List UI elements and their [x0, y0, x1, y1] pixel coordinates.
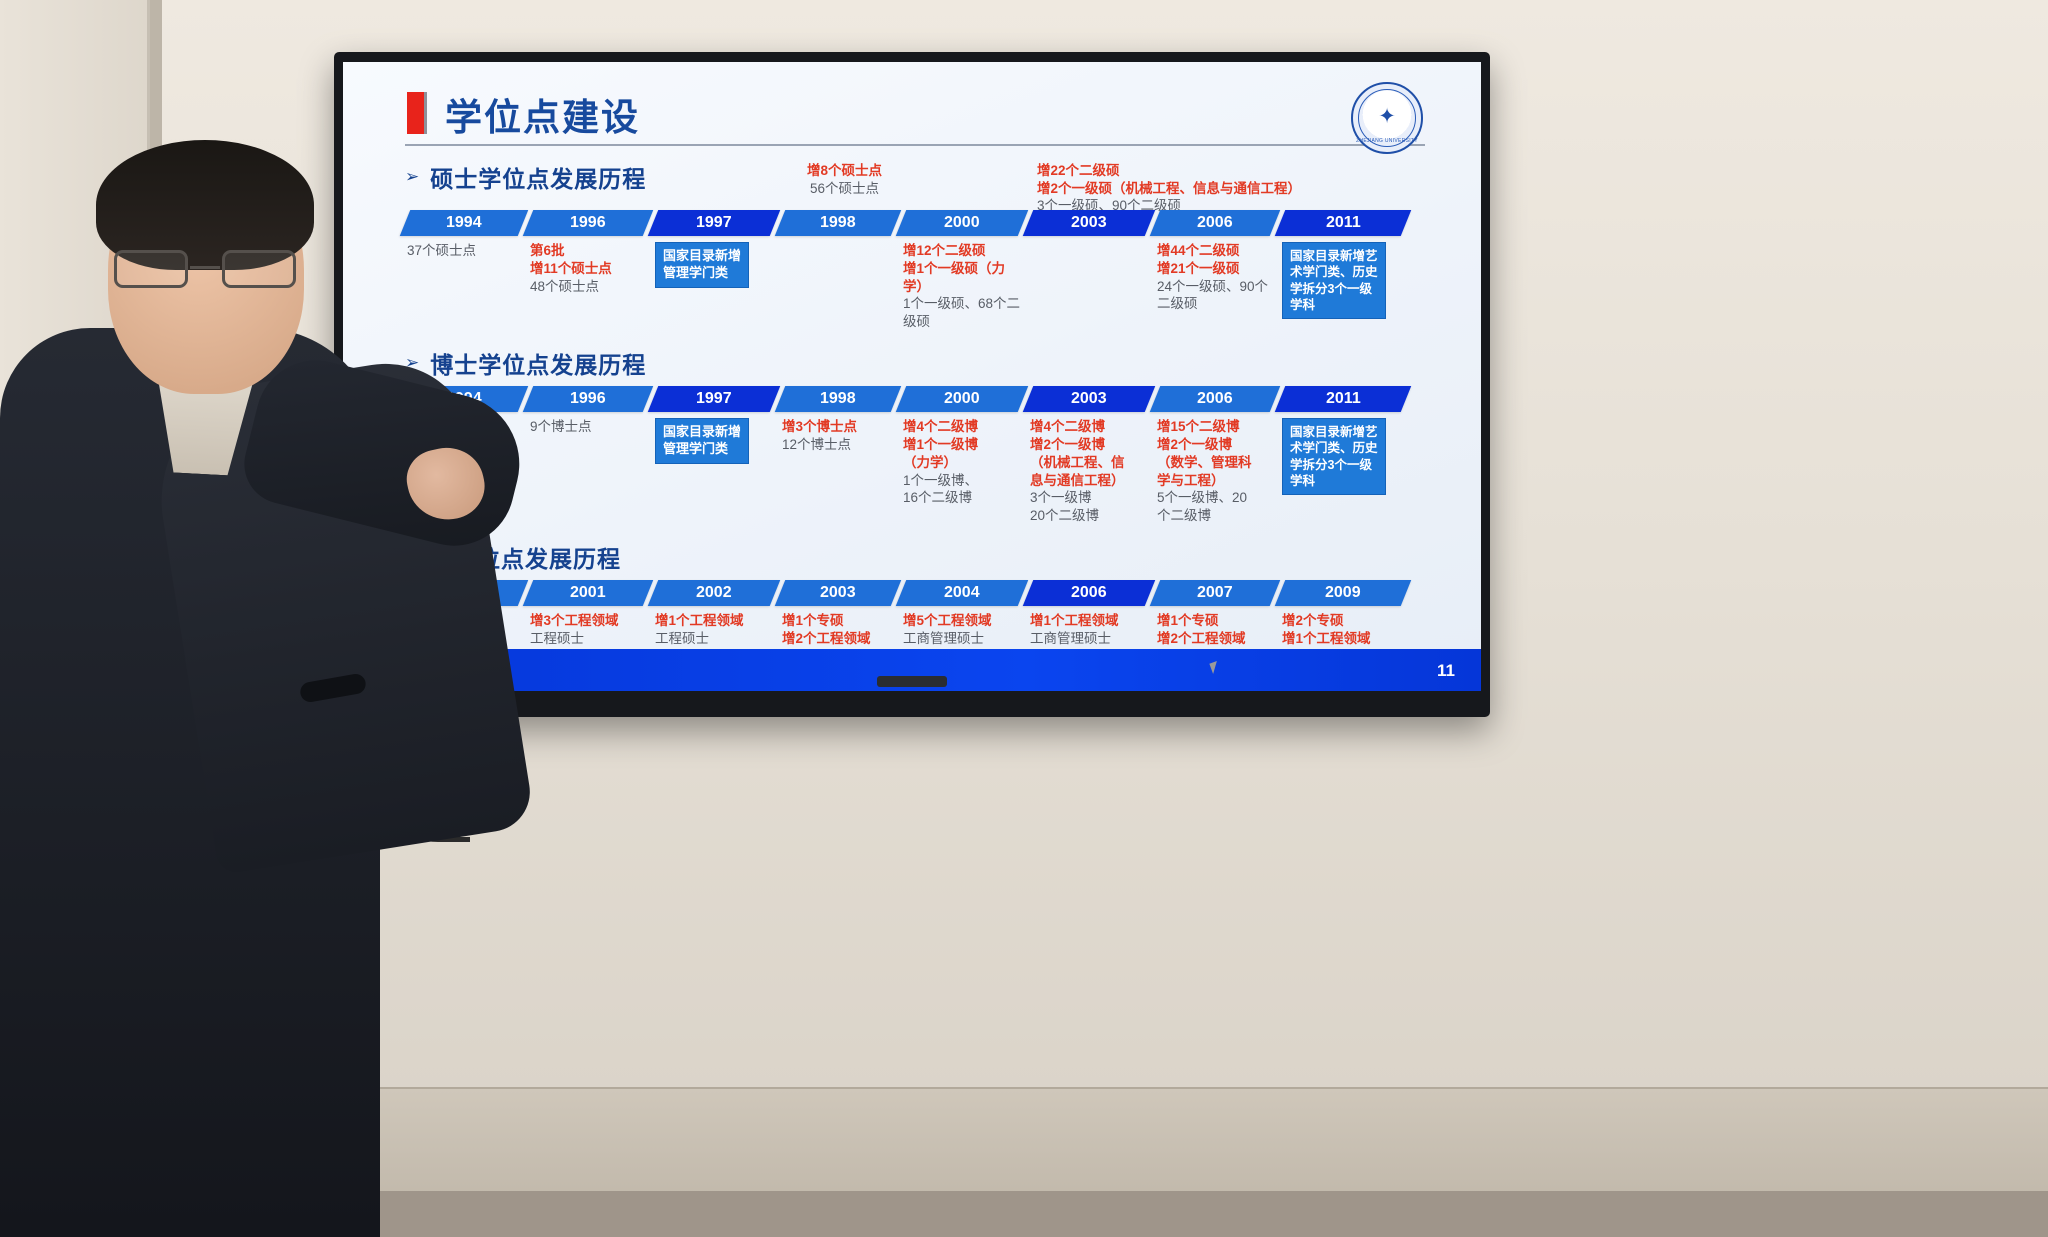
- year-chip-label: 1998: [820, 390, 856, 408]
- timeline-cell: 国家目录新增艺术学门类、历史学拆分3个一级学科: [1280, 417, 1406, 526]
- highlight-box-line: 学拆分3个一级: [1290, 457, 1378, 473]
- timeline-cell-line: 增2个专硕: [1282, 612, 1404, 630]
- floor-strip: [0, 1191, 2048, 1237]
- timeline-cell-line: 3个一级博: [1030, 489, 1148, 507]
- presentation-slide: 学位点建设 ✦ ZHEJIANG UNIVERSITY ➢硕士学位点发展历程增8…: [343, 62, 1481, 691]
- timeline-cell-line: 增4个二级博: [1030, 418, 1148, 436]
- timeline-cell-line: 48个硕士点: [530, 278, 646, 296]
- highlight-box-line: 管理学门类: [663, 265, 741, 282]
- timeline-cell-line: （数学、管理科: [1157, 454, 1273, 472]
- timeline-cell-line: 增2个一级博: [1157, 436, 1273, 454]
- year-chip-label: 2003: [1071, 390, 1107, 408]
- year-chip-2001[interactable]: 2001: [523, 580, 654, 606]
- year-chip-2004[interactable]: 2004: [896, 580, 1029, 606]
- timeline-section-doctoral: ➢博士学位点发展历程199419961997199820002003200620…: [377, 346, 1447, 526]
- wall-mounted-display: 学位点建设 ✦ ZHEJIANG UNIVERSITY ➢硕士学位点发展历程增8…: [334, 52, 1490, 717]
- bullet-arrow-icon: ➢: [405, 353, 420, 373]
- year-chip-label: 1999: [446, 584, 482, 602]
- year-chip-1996[interactable]: 1996: [523, 210, 654, 236]
- year-chip-label: 1998: [820, 214, 856, 232]
- year-chip-2003[interactable]: 2003: [775, 580, 902, 606]
- timeline-cell: 国家目录新增管理学门类: [653, 417, 775, 526]
- year-chip-2011[interactable]: 2011: [1275, 210, 1412, 236]
- timeline-cell: 增3个博士点12个博士点: [780, 417, 896, 526]
- slide-header: 学位点建设 ✦ ZHEJIANG UNIVERSITY: [377, 88, 1447, 150]
- timeline-cell-line: 增44个二级硕: [1157, 242, 1273, 260]
- timeline-cell: 37个硕士点: [405, 241, 523, 332]
- highlight-box: 国家目录新增管理学门类: [655, 418, 749, 464]
- year-chip-2003[interactable]: 2003: [1023, 210, 1156, 236]
- top-note: 增8个硕士点56个硕士点: [807, 162, 882, 197]
- timeline-section-masters: ➢硕士学位点发展历程增8个硕士点56个硕士点增22个二级硕增2个一级硕（机械工程…: [377, 160, 1447, 332]
- highlight-box: 国家目录新增艺术学门类、历史学拆分3个一级学科: [1282, 418, 1386, 495]
- year-chip-2011[interactable]: 2011: [1275, 386, 1412, 412]
- year-chip-label: 1994: [446, 390, 482, 408]
- timeline-cell-line: 增1个一级硕（力学）: [903, 260, 1021, 296]
- year-chip-label: 1994: [446, 214, 482, 232]
- timeline-cell-line: 工程硕士: [530, 630, 646, 648]
- highlight-box-line: 术学门类、历史: [1290, 264, 1378, 280]
- top-note-line: 增8个硕士点: [807, 162, 882, 180]
- section-heading-professional: 专业学位点发展历程: [405, 540, 1447, 574]
- top-note-line: 56个硕士点: [807, 180, 882, 198]
- highlight-box-line: 国家目录新增: [663, 248, 741, 265]
- year-chip-2007[interactable]: 2007: [1150, 580, 1281, 606]
- timeline-cell-line: 1个一级博、: [903, 472, 1021, 490]
- timeline-cell: 国家目录新增管理学门类: [653, 241, 775, 332]
- top-note: 增22个二级硕增2个一级硕（机械工程、信息与通信工程）3个一级硕、90个二级硕: [1037, 162, 1301, 215]
- timeline-cell-line: 工商管理硕士: [1030, 630, 1148, 648]
- timeline-cell-line: 工程硕士: [407, 612, 521, 630]
- timeline-cell-line: 增21个一级硕: [1157, 260, 1273, 278]
- slide-body: ➢硕士学位点发展历程增8个硕士点56个硕士点增22个二级硕增2个一级硕（机械工程…: [377, 160, 1447, 691]
- year-chip-1998[interactable]: 1998: [775, 210, 902, 236]
- year-chip-label: 2006: [1071, 584, 1107, 602]
- timeline-cell-line: 增1个工程领域: [1030, 612, 1148, 630]
- year-chip-2006[interactable]: 2006: [1023, 580, 1156, 606]
- university-logo-icon: ✦ ZHEJIANG UNIVERSITY: [1351, 82, 1423, 154]
- highlight-box-line: 学科: [1290, 297, 1378, 313]
- timeline-cell-line: 增3个工程领域: [530, 612, 646, 630]
- highlight-box-line: 国家目录新增艺: [1290, 424, 1378, 440]
- timeline-cell-line: 增2个工程领域: [1157, 630, 1273, 648]
- timeline-cell: 增15个二级博增2个一级博（数学、管理科学与工程）5个一级博、20个二级博: [1155, 417, 1275, 526]
- timeline-cell: [1028, 241, 1150, 332]
- highlight-box-line: 国家目录新增艺: [1290, 248, 1378, 264]
- year-chip-1994[interactable]: 1994: [400, 386, 529, 412]
- timeline-cell-line: 增1个工程领域: [1282, 630, 1404, 648]
- display-chin-logo: [877, 676, 947, 687]
- timeline-cell-line: 16个二级博: [903, 489, 1021, 507]
- highlight-box-line: 管理学门类: [663, 441, 741, 458]
- timeline-cell-line: （3个领域）: [407, 630, 521, 648]
- timeline-cell-line: 学与工程）: [1157, 472, 1273, 490]
- timeline-cell-line: 37个硕士点: [407, 242, 521, 260]
- wall-trim: [150, 0, 162, 1237]
- year-chip-label: 2003: [1071, 214, 1107, 232]
- logo-text: ZHEJIANG UNIVERSITY: [1356, 138, 1418, 144]
- year-chip-label: 2002: [696, 584, 732, 602]
- timeline-cell-line: 增5个工程领域: [903, 612, 1021, 630]
- timeline-cell-line: 增12个二级硕: [903, 242, 1021, 260]
- year-chip-label: 1996: [570, 214, 606, 232]
- timeline-cell-line: 增1个一级博: [903, 436, 1021, 454]
- highlight-box-line: 学拆分3个一级: [1290, 281, 1378, 297]
- content-row-doctoral: 9个博士点9个博士点国家目录新增管理学门类增3个博士点12个博士点增4个二级博增…: [405, 417, 1447, 526]
- year-chevron-row-professional: 19992001200220032004200620072009: [405, 580, 1447, 606]
- year-chip-2000[interactable]: 2000: [896, 210, 1029, 236]
- year-chip-label: 1997: [696, 390, 732, 408]
- year-chip-1997[interactable]: 1997: [648, 386, 781, 412]
- year-chip-2003[interactable]: 2003: [1023, 386, 1156, 412]
- timeline-cell-line: 增2个一级博: [1030, 436, 1148, 454]
- timeline-cell-line: 20个二级博: [1030, 507, 1148, 525]
- year-chip-1994[interactable]: 1994: [400, 210, 529, 236]
- year-chevron-row-doctoral: 19941996199719982000200320062011: [405, 386, 1447, 412]
- timeline-cell-line: 增3个博士点: [782, 418, 894, 436]
- year-chip-label: 1996: [570, 390, 606, 408]
- year-chip-label: 2000: [944, 214, 980, 232]
- year-chip-label: 2009: [1325, 584, 1361, 602]
- timeline-cell-line: 增1个专硕: [782, 612, 894, 630]
- timeline-cell: 增4个二级博增1个一级博（力学）1个一级博、16个二级博: [901, 417, 1023, 526]
- timeline-cell-line: 增1个工程领域: [655, 612, 773, 630]
- year-chip-2000[interactable]: 2000: [896, 386, 1029, 412]
- top-note-line: 增2个一级硕（机械工程、信息与通信工程）: [1037, 180, 1301, 198]
- highlight-box: 国家目录新增艺术学门类、历史学拆分3个一级学科: [1282, 242, 1386, 319]
- timeline-cell: 增4个二级博增2个一级博（机械工程、信息与通信工程）3个一级博20个二级博: [1028, 417, 1150, 526]
- year-chip-label: 2000: [944, 390, 980, 408]
- display-screen: 学位点建设 ✦ ZHEJIANG UNIVERSITY ➢硕士学位点发展历程增8…: [343, 62, 1481, 691]
- timeline-cell: 9个博士点: [528, 417, 648, 526]
- timeline-cell: [780, 241, 896, 332]
- timeline-cell-line: 增15个二级博: [1157, 418, 1273, 436]
- timeline-cell: 第6批增11个硕士点48个硕士点: [528, 241, 648, 332]
- section-heading-label: 博士学位点发展历程: [430, 346, 646, 380]
- timeline-cell-line: 9个博士点: [407, 418, 521, 436]
- page-title: 学位点建设: [445, 87, 640, 141]
- timeline-cell-line: 9个博士点: [530, 418, 646, 436]
- highlight-box: 国家目录新增管理学门类: [655, 242, 749, 288]
- timeline-cell-line: 息与通信工程）: [1030, 472, 1148, 490]
- timeline-cell: 9个博士点: [405, 417, 523, 526]
- title-accent-bar: [407, 92, 427, 134]
- year-chip-label: 2001: [570, 584, 606, 602]
- title-divider: [405, 144, 1425, 146]
- highlight-box-line: 术学门类、历史: [1290, 440, 1378, 456]
- year-chip-2002[interactable]: 2002: [648, 580, 781, 606]
- year-chip-label: 2006: [1197, 214, 1233, 232]
- year-chip-2006[interactable]: 2006: [1150, 210, 1281, 236]
- year-chip-1998[interactable]: 1998: [775, 386, 902, 412]
- timeline-cell-line: 24个一级硕、90个二级硕: [1157, 278, 1273, 314]
- year-chip-2009[interactable]: 2009: [1275, 580, 1412, 606]
- content-row-masters: 37个硕士点第6批增11个硕士点48个硕士点国家目录新增管理学门类增12个二级硕…: [405, 241, 1447, 332]
- timeline-cell-line: （机械工程、信: [1030, 454, 1148, 472]
- year-chip-label: 1997: [696, 214, 732, 232]
- timeline-cell-line: 增2个工程领域: [782, 630, 894, 648]
- timeline-cell: 国家目录新增艺术学门类、历史学拆分3个一级学科: [1280, 241, 1406, 332]
- top-note-line: 增22个二级硕: [1037, 162, 1301, 180]
- bullet-arrow-icon: ➢: [405, 167, 420, 187]
- year-chip-label: 2006: [1197, 390, 1233, 408]
- timeline-cell-line: 1个一级硕、68个二级硕: [903, 295, 1021, 331]
- logo-mark: ✦: [1378, 104, 1396, 129]
- timeline-cell-line: 增11个硕士点: [530, 260, 646, 278]
- timeline-cell: 增44个二级硕增21个一级硕24个一级硕、90个二级硕: [1155, 241, 1275, 332]
- timeline-cell-line: 第6批: [530, 242, 646, 260]
- wall-panel-left: [0, 0, 150, 1237]
- year-chip-label: 2003: [820, 584, 856, 602]
- year-chip-label: 2004: [944, 584, 980, 602]
- section-heading-label: 专业学位点发展历程: [405, 540, 621, 574]
- year-chip-1996[interactable]: 1996: [523, 386, 654, 412]
- timeline-cell: 增12个二级硕增1个一级硕（力学）1个一级硕、68个二级硕: [901, 241, 1023, 332]
- timeline-cell-line: 12个博士点: [782, 436, 894, 454]
- timeline-cell-line: 工商管理硕士: [903, 630, 1021, 648]
- year-chip-label: 2011: [1326, 390, 1361, 408]
- year-chip-label: 2011: [1326, 214, 1361, 232]
- timeline-cell-line: 增4个二级博: [903, 418, 1021, 436]
- timeline-cell-line: 增1个专硕: [1157, 612, 1273, 630]
- highlight-box-line: 学科: [1290, 473, 1378, 489]
- slide-page-number: 11: [1437, 661, 1455, 681]
- year-chevron-row-masters: 19941996199719982000200320062011: [405, 210, 1447, 236]
- section-heading-label: 硕士学位点发展历程: [430, 160, 646, 194]
- timeline-cell-line: 个二级博: [1157, 507, 1273, 525]
- year-chip-label: 2007: [1197, 584, 1233, 602]
- section-heading-doctoral: ➢博士学位点发展历程: [405, 346, 1447, 380]
- year-chip-2006[interactable]: 2006: [1150, 386, 1281, 412]
- year-chip-1999[interactable]: 1999: [400, 580, 529, 606]
- year-chip-1997[interactable]: 1997: [648, 210, 781, 236]
- timeline-cell-line: （力学）: [903, 454, 1021, 472]
- timeline-cell-line: 5个一级博、20: [1157, 489, 1273, 507]
- timeline-cell-line: 工程硕士: [655, 630, 773, 648]
- highlight-box-line: 国家目录新增: [663, 424, 741, 441]
